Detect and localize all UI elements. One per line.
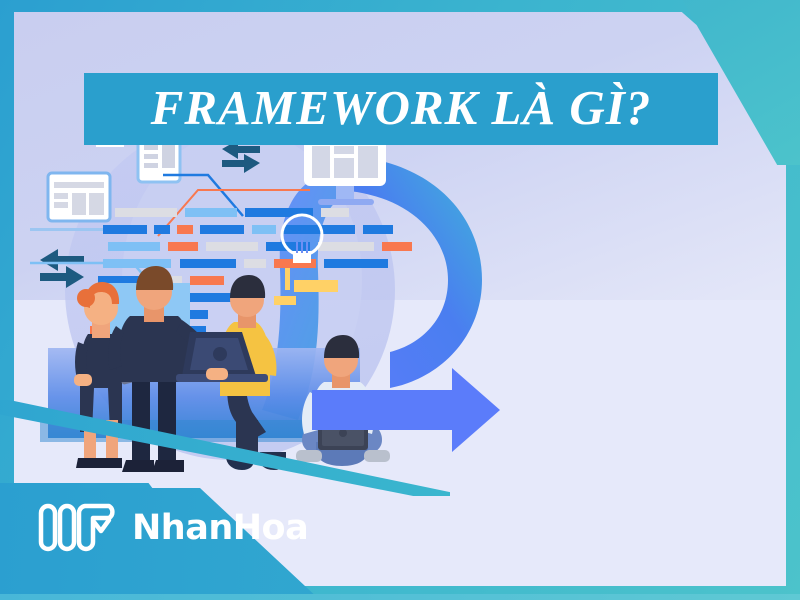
brand-logo[interactable]: NhanHoa [32, 500, 308, 556]
brand-name: NhanHoa [132, 511, 308, 546]
bottom-edge-strip [0, 594, 800, 600]
banner: FRAMEWORK LÀ GÌ? NhanHoa [0, 0, 800, 600]
nhanhoa-w-logo-mark [32, 500, 118, 556]
page-title: FRAMEWORK LÀ GÌ? [151, 83, 652, 136]
title-banner: FRAMEWORK LÀ GÌ? [84, 73, 718, 145]
